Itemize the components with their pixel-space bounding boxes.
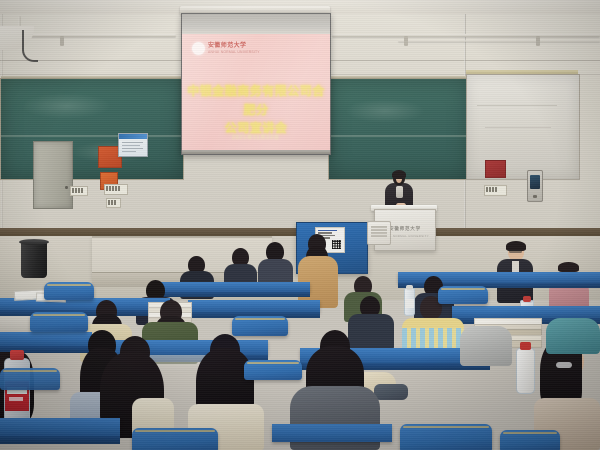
chair-front-left[interactable] <box>132 428 218 450</box>
chair-row3-left[interactable] <box>30 312 88 332</box>
desk-row1-center <box>272 424 392 442</box>
desk-row3-right <box>452 306 600 318</box>
chair-front-right[interactable] <box>500 430 560 450</box>
trash-bin <box>21 242 47 278</box>
face-mask-icon <box>556 362 572 368</box>
screen-weight-bar <box>182 150 330 154</box>
chair-row4-right[interactable] <box>438 286 488 304</box>
ceiling-conduit-right-2 <box>398 40 600 42</box>
university-seal-icon <box>192 42 205 55</box>
wall-speaker-unit <box>367 221 391 245</box>
blue-header-poster <box>118 133 148 157</box>
slide-university-logo: 安徽师范大学 ANHUI NORMAL UNIVERSITY <box>192 42 260 55</box>
chair-row2-center[interactable] <box>244 360 302 380</box>
ceiling-conduit-right <box>332 34 600 37</box>
desk-row2-far-left <box>0 332 92 346</box>
desk-row1-left-edge <box>0 436 120 444</box>
slide-title: 中银金融商务有限公司合肥分 公司宣讲会 <box>182 82 330 138</box>
lecture-hall-photo: 安徽师范大学 ANHUI NORMAL UNIVERSITY 中银金融商务有限公… <box>0 0 600 450</box>
small-plaque-d <box>484 185 507 196</box>
water-bottle-center <box>404 288 415 316</box>
slide-date: 2021年11月23日 <box>182 134 330 141</box>
desk-row4-left <box>160 282 310 292</box>
slide-logo-subtext: ANHUI NORMAL UNIVERSITY <box>208 50 260 54</box>
door-knob-icon <box>65 186 68 189</box>
desk-row4-left-edge <box>160 292 310 297</box>
card-reader-terminal[interactable] <box>527 170 543 202</box>
hanging-cable <box>22 30 38 62</box>
qr-code-icon <box>331 239 342 250</box>
projector-screen: 安徽师范大学 ANHUI NORMAL UNIVERSITY 中银金融商务有限公… <box>181 13 331 155</box>
slide-title-line-1: 中银金融商务有限公司合肥分 <box>182 82 330 119</box>
chair-front-center[interactable] <box>400 424 492 450</box>
chair-row2-left[interactable] <box>0 368 60 390</box>
conduit-bracket-c <box>536 36 540 46</box>
small-plaque-b <box>104 184 128 195</box>
desk-row3-center <box>188 300 320 312</box>
speaker-shirt <box>396 186 403 198</box>
chair-row4-left[interactable] <box>44 282 94 300</box>
chair-row3-center[interactable] <box>232 316 288 336</box>
whiteboard-panel <box>466 74 580 180</box>
trash-bin-rim <box>19 239 49 245</box>
eyeglasses-icon <box>509 250 522 253</box>
reader-screen-icon <box>530 175 540 189</box>
conduit-bracket-b <box>404 36 408 46</box>
chalkboard-left <box>0 78 184 180</box>
reader-button-icon[interactable] <box>533 195 537 198</box>
electrical-panel-door[interactable] <box>33 141 73 209</box>
conduit-bracket-a <box>60 36 64 46</box>
dark-pouch <box>374 384 408 400</box>
slide-logo-text: 安徽师范大学 <box>208 43 260 50</box>
presentation-slide: 安徽师范大学 ANHUI NORMAL UNIVERSITY 中银金融商务有限公… <box>182 34 330 152</box>
small-plaque-a <box>70 186 88 196</box>
chalkboard-right <box>328 78 470 180</box>
poster-header-band <box>119 134 147 139</box>
desk-row1-left <box>0 418 120 436</box>
screen-top-band <box>182 14 330 36</box>
speaker-hair <box>392 170 406 179</box>
sports-bottle-right <box>516 348 535 394</box>
red-warning-sign <box>485 160 506 178</box>
small-plaque-c <box>106 198 121 208</box>
